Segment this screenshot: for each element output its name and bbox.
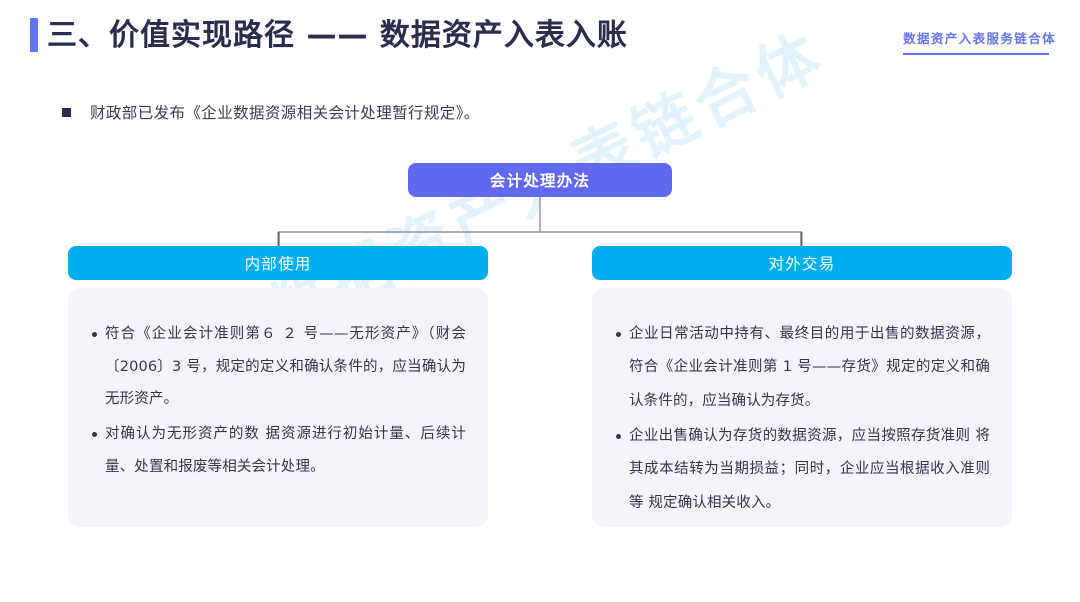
panel-external-trade-list: 企业日常活动中持有、最终目的用于出售的数据资源， 符合《企业会计准则第 1 号—… <box>614 318 990 520</box>
title-accent-bar <box>30 18 38 52</box>
list-item: 符合《企业会计准则第６ ２ 号——无形资产》（财会〔2006〕3 号，规定的定义… <box>90 318 466 416</box>
list-item: 对确认为无形资产的数 据资源进行初始计量、后续计量、处置和报废等相关会计处理。 <box>90 418 466 483</box>
panel-internal-use-list: 符合《企业会计准则第６ ２ 号——无形资产》（财会〔2006〕3 号，规定的定义… <box>90 318 466 483</box>
panel-internal-use: 符合《企业会计准则第６ ２ 号——无形资产》（财会〔2006〕3 号，规定的定义… <box>68 288 488 527</box>
slide-root: 数据资产入表链合体 三、价值实现路径 —— 数据资产入表入账 数据资产入表服务链… <box>0 0 1080 602</box>
page-title-wrap: 三、价值实现路径 —— 数据资产入表入账 <box>30 18 628 52</box>
brand-underline <box>903 53 1049 55</box>
node-root-accounting-method[interactable]: 会计处理办法 <box>408 163 672 197</box>
list-item: 企业出售确认为存货的数据资源，应当按照存货准则 将其成本结转为当期损益；同时，企… <box>614 420 990 520</box>
org-chart: 会计处理办法 内部使用 对外交易 符合《企业会计准则第６ ２ 号——无形资产》（… <box>0 0 1080 602</box>
lead-statement-text: 财政部已发布《企业数据资源相关会计处理暂行规定》。 <box>90 101 480 123</box>
square-bullet-icon <box>62 108 71 117</box>
list-item: 企业日常活动中持有、最终目的用于出售的数据资源， 符合《企业会计准则第 1 号—… <box>614 318 990 418</box>
branch-header-external-trade[interactable]: 对外交易 <box>592 246 1012 280</box>
brand-label: 数据资产入表服务链合体 <box>903 28 1056 47</box>
slide-header: 三、价值实现路径 —— 数据资产入表入账 数据资产入表服务链合体 <box>0 0 1080 88</box>
panel-external-trade: 企业日常活动中持有、最终目的用于出售的数据资源， 符合《企业会计准则第 1 号—… <box>592 288 1012 527</box>
page-title: 三、价值实现路径 —— 数据资产入表入账 <box>47 19 628 52</box>
branch-header-internal-use[interactable]: 内部使用 <box>68 246 488 280</box>
lead-statement: 财政部已发布《企业数据资源相关会计处理暂行规定》。 <box>62 101 480 123</box>
brand-mark: 数据资产入表服务链合体 <box>903 28 1056 55</box>
